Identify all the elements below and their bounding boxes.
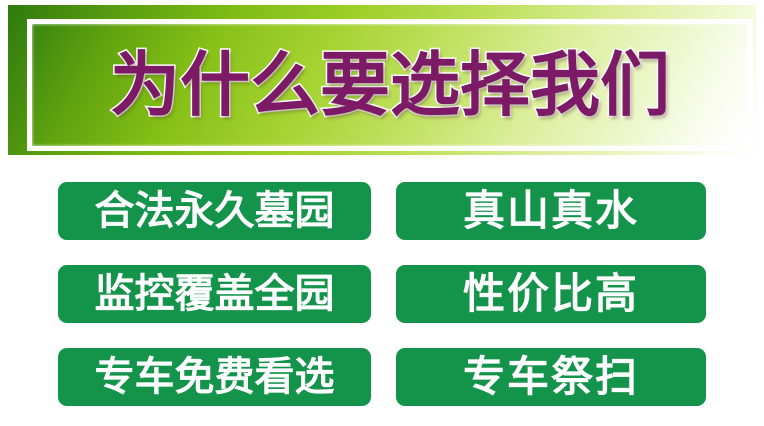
header-banner: 为什么要选择我们	[0, 0, 764, 160]
feature-button-high-cost-performance[interactable]: 性价比高	[396, 265, 706, 323]
feature-button-grid: 合法永久墓园 真山真水 监控覆盖全园 性价比高 专车免费看选 专车祭扫	[58, 182, 706, 406]
feature-button-legal-permanent-cemetery[interactable]: 合法永久墓园	[58, 182, 371, 240]
banner-white-frame: 为什么要选择我们	[27, 19, 753, 151]
feature-button-real-mountain-real-water[interactable]: 真山真水	[396, 182, 706, 240]
feature-button-shuttle-tomb-sweeping[interactable]: 专车祭扫	[396, 348, 706, 406]
feature-button-full-surveillance-coverage[interactable]: 监控覆盖全园	[58, 265, 371, 323]
banner-outer-gradient: 为什么要选择我们	[8, 5, 756, 155]
feature-button-free-shuttle-viewing[interactable]: 专车免费看选	[58, 348, 371, 406]
page-title: 为什么要选择我们	[32, 24, 748, 146]
